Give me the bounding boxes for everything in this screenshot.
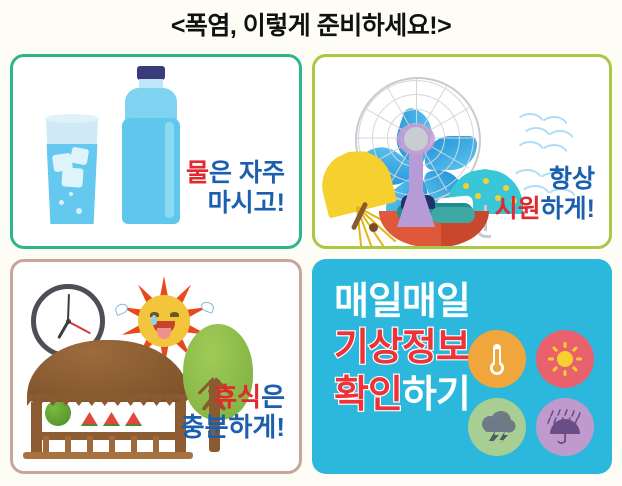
check-weather-panel[interactable]: 매일매일 기상정보 확인하기	[312, 259, 612, 474]
thunderstorm-icon[interactable]	[468, 398, 526, 456]
slogan-keyword: 확인	[334, 374, 402, 416]
stay-cool-panel[interactable]: 항상 시원하게!	[312, 54, 612, 249]
take-rest-panel[interactable]: 휴식은 충분하게!	[10, 259, 302, 474]
slogan-text: 은	[261, 382, 285, 412]
stay-cool-slogan: 항상 시원하게!	[495, 165, 595, 224]
drink-water-slogan: 물은 자주 마시고!	[186, 159, 285, 218]
slogan-keyword: 기상정보	[334, 327, 470, 369]
slogan-text: 하기	[402, 374, 470, 416]
thermometer-icon[interactable]	[468, 330, 526, 388]
water-glass-icon	[45, 118, 99, 224]
sun-icon[interactable]	[536, 330, 594, 388]
panel-grid: 물은 자주 마시고!	[10, 54, 612, 474]
page-title: <폭염, 이렇게 준비하세요!>	[0, 6, 622, 42]
slogan-keyword: 물	[186, 159, 209, 187]
drink-water-panel[interactable]: 물은 자주 마시고!	[10, 54, 302, 249]
take-rest-slogan: 휴식은 충분하게!	[181, 382, 285, 443]
slogan-text: 마시고!	[208, 189, 285, 217]
slogan-text: 항상	[549, 165, 595, 193]
slogan-text: 충분하게!	[181, 412, 285, 442]
slogan-keyword: 시원	[495, 195, 541, 223]
pavilion-icon	[23, 340, 201, 458]
slogan-text: 매일매일	[334, 281, 470, 323]
rain-umbrella-icon[interactable]	[536, 398, 594, 456]
check-weather-slogan: 매일매일 기상정보 확인하기	[334, 279, 470, 418]
weather-icon-cluster	[468, 330, 596, 458]
slogan-text: 하게!	[541, 195, 595, 223]
inflatable-boat-icon	[379, 195, 501, 247]
water-bottle-icon	[117, 66, 185, 224]
slogan-keyword: 휴식	[213, 382, 261, 412]
slogan-text: 은 자주	[209, 159, 285, 187]
